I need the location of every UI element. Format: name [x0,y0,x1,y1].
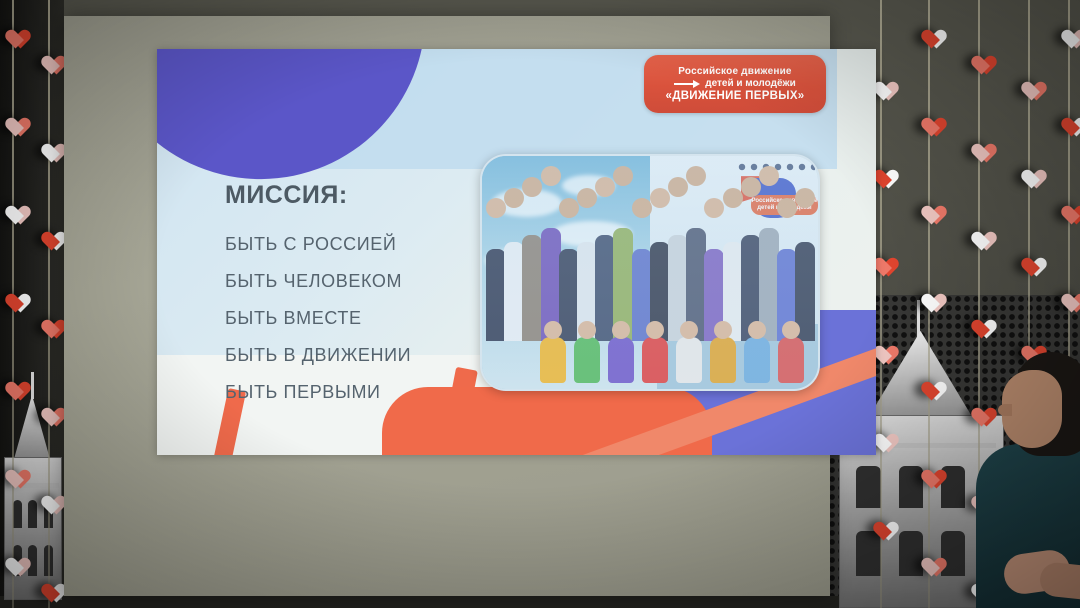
garland-string [48,0,50,608]
mission-item: БЫТЬ ЧЕЛОВЕКОМ [225,271,411,292]
mission-list: БЫТЬ С РОССИЕЙБЫТЬ ЧЕЛОВЕКОМБЫТЬ ВМЕСТЕБ… [225,234,411,403]
photo-child [744,337,770,383]
logo-line-1: Российское движение [678,66,791,77]
paper-heart [38,488,60,508]
photo-person [504,242,524,341]
paper-heart [918,462,940,482]
paper-heart [968,48,990,68]
paper-heart [1058,286,1080,306]
paper-heart [2,462,24,482]
paper-heart [918,198,940,218]
group-photo: Российское движение детей и молодёжи [480,154,820,391]
paper-heart [38,312,60,332]
photo-child [540,337,566,383]
paper-heart [2,550,24,570]
logo-line-2: детей и молодёжи [705,78,796,89]
paper-heart [1018,162,1040,182]
photo-child [676,337,702,383]
mission-item: БЫТЬ ПЕРВЫМИ [225,382,411,403]
paper-heart [1058,110,1080,130]
paper-heart [918,550,940,570]
paper-heart [38,224,60,244]
arrow-right-icon [674,80,700,88]
photo-child [608,337,634,383]
paper-heart [968,136,990,156]
paper-heart [968,312,990,332]
photo-person [522,235,542,341]
paper-heart [2,286,24,306]
paper-heart [1058,22,1080,42]
paper-heart [1018,250,1040,270]
photo-child [574,337,600,383]
paper-heart [918,286,940,306]
paper-heart [918,110,940,130]
presentation-slide: Российское движение детей и молодёжи «ДВ… [157,49,876,455]
paper-heart [918,22,940,42]
paper-heart [1058,198,1080,218]
presenter-profile [998,404,1012,416]
mission-item: БЫТЬ С РОССИЕЙ [225,234,411,255]
paper-heart [2,22,24,42]
paper-heart [38,576,60,596]
paper-heart [1018,74,1040,94]
photo-child [778,337,804,383]
paper-heart [2,110,24,130]
mural-spire [31,372,34,399]
paper-heart [2,198,24,218]
paper-heart [38,400,60,420]
logo-line-3: «ДВИЖЕНИЕ ПЕРВЫХ» [666,90,805,102]
projection-screen: Российское движение детей и молодёжи «ДВ… [64,16,830,596]
paper-heart [918,374,940,394]
page-title: МИССИЯ: [225,181,348,210]
photo-person [486,249,506,341]
room-scene: Российское движение детей и молодёжи «ДВ… [0,0,1080,608]
paper-heart [38,48,60,68]
paper-heart [870,514,892,534]
paper-heart [2,374,24,394]
photo-child [710,337,736,383]
presenter-person [962,352,1080,608]
rddm-logo-badge: Российское движение детей и молодёжи «ДВ… [644,55,826,113]
mission-item: БЫТЬ ВМЕСТЕ [225,308,411,329]
paper-heart [38,136,60,156]
photo-child [642,337,668,383]
paper-heart [968,224,990,244]
mission-item: БЫТЬ В ДВИЖЕНИИ [225,345,411,366]
